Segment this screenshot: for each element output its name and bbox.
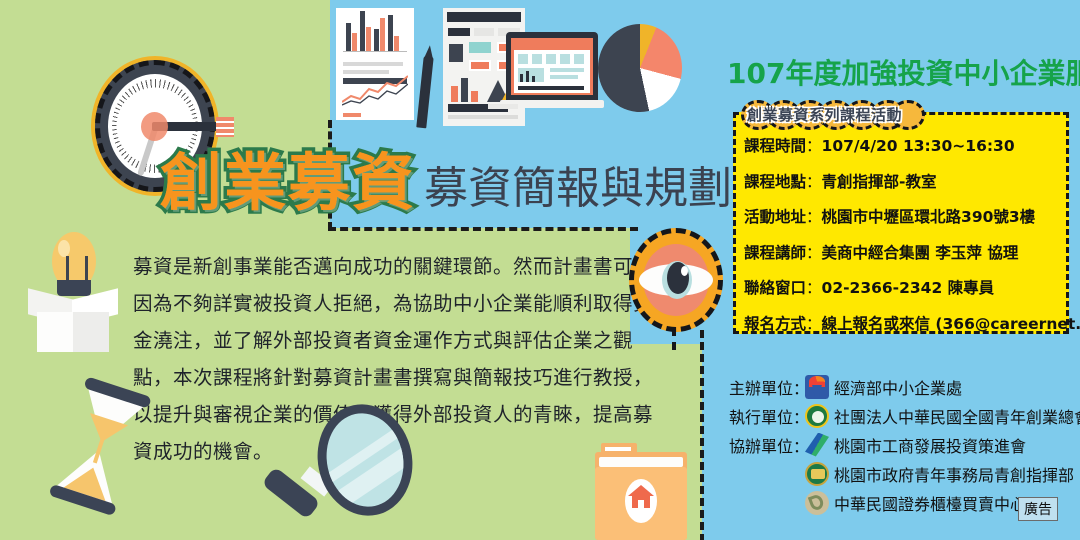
organizer-label: 協辦單位： <box>729 433 805 457</box>
divider-vertical-right <box>700 330 704 540</box>
page-title: 創業募資 <box>160 132 416 222</box>
course-series-badge: 創業募資系列課程活動 <box>741 100 921 130</box>
report-document-icon <box>336 8 414 120</box>
info-value: 青創指揮部-教室 <box>822 173 937 191</box>
eye-icon <box>629 228 723 332</box>
page-subtitle: 募資簡報與規劃 <box>424 152 732 216</box>
info-row: 課程地點：青創指揮部-教室 <box>744 170 1066 192</box>
organizer-row: 執行單位： 社團法人中華民國全國青年創業總會 <box>729 401 1074 430</box>
report-line-chart <box>342 74 408 106</box>
info-value: 線上報名或來信 (366@careernet.org.tw) <box>822 315 1080 333</box>
report-bar-chart <box>343 15 407 57</box>
organizer-name: 經濟部中小企業處 <box>834 375 962 399</box>
tablet-bar-chart <box>451 86 458 102</box>
moea-sme-logo-icon <box>805 375 829 399</box>
report-footer-mark <box>343 113 361 117</box>
info-row: 報名方式：線上報名或來信 (366@careernet.org.tw) <box>744 312 1066 334</box>
organizer-label: 主辦單位： <box>729 375 805 399</box>
info-value: 美商中經合集團 李玉萍 協理 <box>822 244 1019 262</box>
poster-canvas: 創業募資 創業募資 募資簡報與規劃 募資是新創事業能否邁向成功的關鍵環節。然而計… <box>0 0 1080 540</box>
info-row: 課程時間：107/4/20 13:30~16:30 <box>744 134 1066 156</box>
pie-chart-icon <box>598 24 682 112</box>
nayea-logo-icon <box>805 404 829 428</box>
organizer-list: 主辦單位： 經濟部中小企業處 執行單位： 社團法人中華民國全國青年創業總會 協辦… <box>729 372 1074 517</box>
info-key: 活動地址 <box>744 208 806 226</box>
organizer-row: 桃園市政府青年事務局青創指揮部 <box>729 459 1074 488</box>
course-info-list: 課程時間：107/4/20 13:30~16:30 課程地點：青創指揮部-教室 … <box>744 134 1066 347</box>
info-key: 報名方式 <box>744 315 806 333</box>
organizer-name: 中華民國證券櫃檯買賣中心 <box>834 491 1026 515</box>
lightbulb-in-box-icon <box>22 232 122 352</box>
folder-home-icon <box>595 443 687 540</box>
info-value: 桃園市中壢區環北路390號3樓 <box>822 208 1036 226</box>
organizer-name: 桃園市工商發展投資策進會 <box>834 433 1026 457</box>
organizer-name: 社團法人中華民國全國青年創業總會 <box>834 404 1080 428</box>
divider-horizontal-top <box>328 227 638 231</box>
organizer-row: 主辦單位： 經濟部中小企業處 <box>729 372 1074 401</box>
info-key: 課程地點 <box>744 173 806 191</box>
taoyuan-youth-logo-icon <box>805 462 829 486</box>
badge-label: 創業募資系列課程活動 <box>747 104 919 125</box>
ad-badge[interactable]: 廣告 <box>1018 497 1058 521</box>
info-row: 課程講師：美商中經合集團 李玉萍 協理 <box>744 241 1066 263</box>
program-title: 107年度加強投資中小企業服務計畫 <box>727 52 1080 92</box>
tpex-logo-icon <box>805 491 829 515</box>
info-row: 活動地址：桃園市中壢區環北路390號3樓 <box>744 205 1066 227</box>
magnifying-glass-icon <box>256 404 416 540</box>
laptop-icon <box>500 32 604 118</box>
info-value: 107/4/20 13:30~16:30 <box>822 137 1015 155</box>
info-key: 課程講師 <box>744 244 806 262</box>
info-key: 聯絡窗口 <box>744 279 806 297</box>
info-value: 02-2366-2342 陳專員 <box>822 279 995 297</box>
organizer-row: 協辦單位： 桃園市工商發展投資策進會 <box>729 430 1074 459</box>
info-row: 聯絡窗口：02-2366-2342 陳專員 <box>744 276 1066 298</box>
organizer-name: 桃園市政府青年事務局青創指揮部 <box>834 462 1074 486</box>
organizer-label: 執行單位： <box>729 404 805 428</box>
info-key: 課程時間 <box>744 137 806 155</box>
